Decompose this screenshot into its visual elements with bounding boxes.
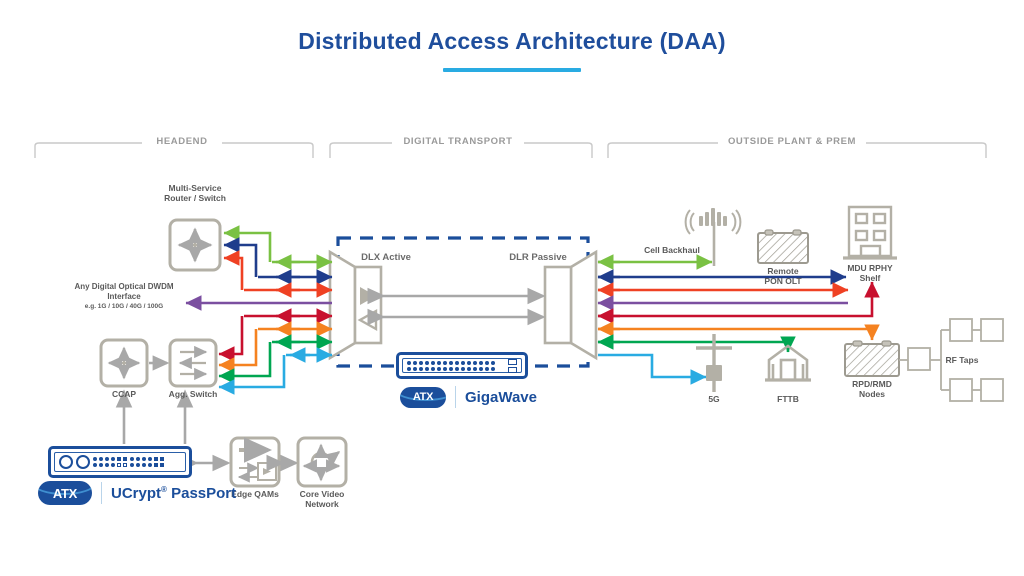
dlx-dlr-fiber-links bbox=[383, 296, 543, 317]
fan-icon bbox=[59, 455, 73, 469]
port-bank-2 bbox=[130, 457, 164, 467]
fttb-label: FTTB bbox=[777, 394, 799, 404]
link-orange-out bbox=[598, 329, 872, 340]
core-video-network-icon bbox=[298, 438, 346, 486]
chassis-faceplate bbox=[54, 452, 186, 472]
multi-service-router-label: Multi-Service Router / Switch bbox=[164, 183, 226, 204]
edge-qams-label: Edge QAMs bbox=[231, 489, 279, 499]
section-label-digital-transport: DIGITAL TRANSPORT bbox=[397, 136, 518, 147]
ccap-icon bbox=[101, 340, 147, 386]
brand-divider bbox=[455, 386, 456, 408]
link-lightblue-5g bbox=[219, 355, 332, 387]
chassis-fans bbox=[59, 455, 90, 469]
remote-pon-olt-icon bbox=[758, 230, 808, 263]
rpd-rmd-nodes-label: RPD/RMD Nodes bbox=[852, 379, 892, 400]
agg-switch-label: Agg. Switch bbox=[169, 389, 218, 399]
gigawave-chassis[interactable] bbox=[396, 352, 528, 379]
dlx-active-label: DLX Active bbox=[361, 252, 411, 263]
section-label-outside-plant: OUTSIDE PLANT & PREM bbox=[722, 136, 862, 147]
gigawave-wordmark: GigaWave bbox=[465, 389, 537, 406]
multi-service-router-icon bbox=[170, 220, 220, 270]
ccap-label: CCAP bbox=[112, 389, 136, 399]
brand-divider bbox=[101, 482, 102, 504]
atx-gigawave-brand: ATX GigaWave bbox=[400, 386, 537, 408]
mdu-rphy-building-icon bbox=[843, 207, 897, 258]
link-darkred-mdu-b bbox=[219, 316, 332, 354]
ucrypt-uplinks bbox=[124, 392, 185, 444]
link-lightblue-out bbox=[598, 355, 706, 377]
port-bank-1 bbox=[93, 457, 127, 467]
link-darkred-out bbox=[598, 282, 872, 316]
link-emerald-fttb bbox=[219, 342, 332, 376]
ucrypt-passport-wordmark: UCrypt® PassPort bbox=[111, 485, 236, 502]
dwdm-interface-label: Any Digital Optical DWDM Interface e.g. … bbox=[74, 282, 173, 311]
mdu-rphy-shelf-label: MDU RPHY Shelf bbox=[847, 263, 892, 284]
diagram-canvas: Distributed Access Architecture (DAA) bbox=[0, 0, 1024, 576]
rpd-rmd-node-icon bbox=[845, 341, 899, 376]
core-video-network-label: Core Video Network bbox=[300, 489, 345, 510]
dlr-passive-label: DLR Passive bbox=[509, 252, 567, 263]
atx-logo-icon: ATX bbox=[400, 387, 446, 408]
cell-backhaul-label: Cell Backhaul bbox=[644, 245, 700, 255]
ucrypt-passport-chassis[interactable] bbox=[48, 446, 192, 478]
agg-switch-icon bbox=[170, 340, 216, 386]
remote-pon-olt-label: Remote PON OLT bbox=[764, 266, 801, 287]
section-label-headend: HEADEND bbox=[150, 136, 213, 147]
rf-taps-label: RF Taps bbox=[946, 355, 979, 365]
dlx-active-icon bbox=[330, 252, 381, 358]
gigawave-status-bank bbox=[508, 359, 517, 373]
chassis-faceplate bbox=[402, 358, 522, 373]
cell-tower-icon bbox=[686, 208, 741, 266]
atx-logo-icon: ATX bbox=[38, 481, 92, 505]
dlr-passive-icon bbox=[545, 252, 596, 358]
five-g-label: 5G bbox=[708, 394, 719, 404]
edge-qams-icon bbox=[231, 438, 279, 486]
atx-ucrypt-passport-brand: ATX UCrypt® PassPort bbox=[38, 481, 236, 505]
gigawave-port-bank bbox=[407, 361, 495, 371]
link-orange-rpd-rmd bbox=[219, 329, 332, 365]
link-emerald-out bbox=[598, 342, 788, 352]
fan-icon bbox=[76, 455, 90, 469]
